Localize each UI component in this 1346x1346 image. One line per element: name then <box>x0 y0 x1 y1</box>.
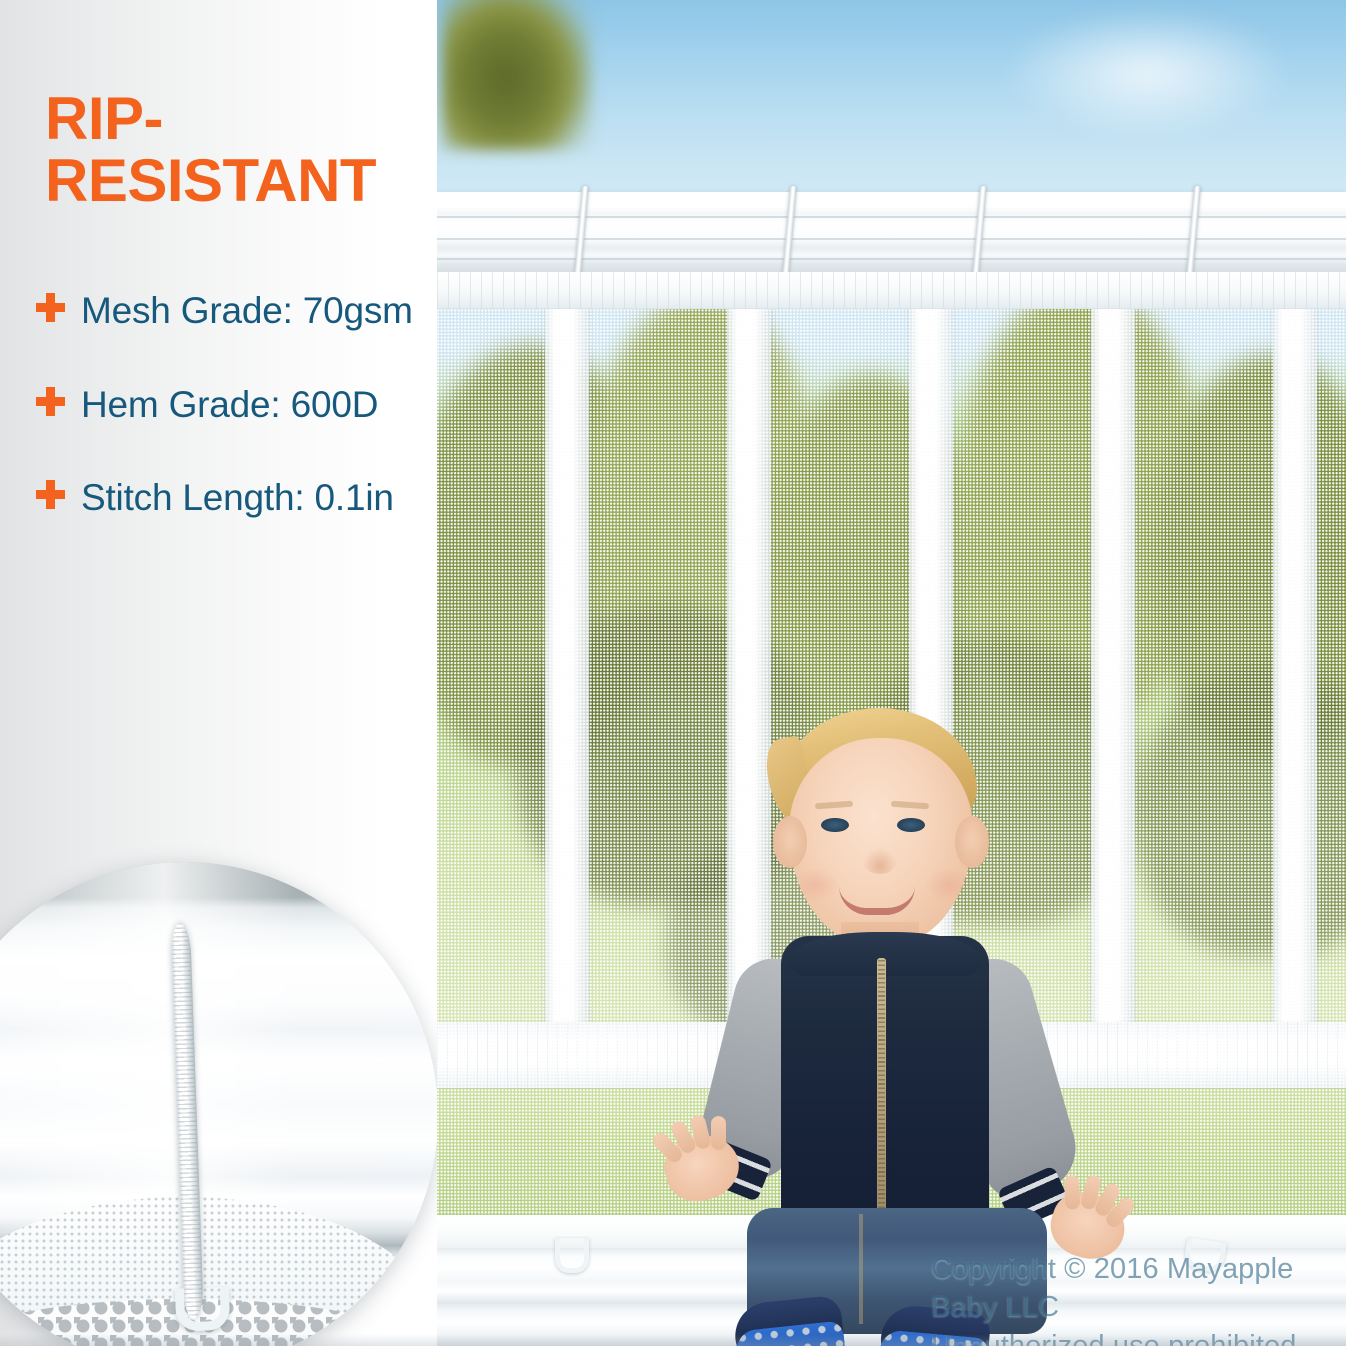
zip-tie-ridges <box>171 923 203 1320</box>
zip-tie-detail-inset <box>0 862 437 1346</box>
ear <box>773 816 807 868</box>
bottom-shadow <box>0 1334 1346 1346</box>
spec-item-hem-grade: Hem Grade: 600D <box>36 382 426 428</box>
nose <box>863 848 897 874</box>
zip-tie-loop <box>175 1287 230 1332</box>
ear <box>955 816 989 868</box>
rail-groove <box>437 216 1346 218</box>
sky <box>437 0 1346 205</box>
product-photo: Copyright © 2016 Mayapple Baby LLC Unaut… <box>437 0 1346 1346</box>
rail-groove <box>437 238 1346 240</box>
infographic-canvas: RIP- RESISTANT Mesh Grade: 70gsm Hem Gra… <box>0 0 1346 1346</box>
jeans-seam <box>859 1214 863 1324</box>
child-subject <box>673 708 1263 1346</box>
railing-baluster <box>1273 305 1317 1025</box>
eye <box>821 818 849 832</box>
info-panel: RIP- RESISTANT Mesh Grade: 70gsm Hem Gra… <box>0 0 437 1346</box>
plus-icon <box>36 480 65 509</box>
eye <box>897 818 925 832</box>
spec-item-label: Mesh Grade: 70gsm <box>81 288 426 334</box>
zipper-teeth <box>878 960 885 1230</box>
railing-baluster <box>545 305 589 1025</box>
background-tree <box>442 0 592 150</box>
spec-item-mesh-grade: Mesh Grade: 70gsm <box>36 288 426 334</box>
spec-item-label: Hem Grade: 600D <box>81 382 426 428</box>
spec-item-stitch-length: Stitch Length: 0.1in <box>36 475 426 521</box>
page-title: RIP- RESISTANT <box>45 88 425 212</box>
cloud <box>997 6 1297 141</box>
plus-icon <box>36 293 65 322</box>
zip-tie <box>555 1238 589 1273</box>
cheek <box>793 868 839 902</box>
cheek <box>925 868 971 902</box>
rail-groove <box>437 258 1346 260</box>
spec-list: Mesh Grade: 70gsm Hem Grade: 600D Stitch… <box>36 288 426 569</box>
finger <box>711 1116 726 1150</box>
finger <box>1064 1175 1080 1210</box>
plus-icon <box>36 387 65 416</box>
spec-item-label: Stitch Length: 0.1in <box>81 475 426 521</box>
net-top-hem <box>437 272 1346 309</box>
deck-top-rail <box>437 192 1346 282</box>
